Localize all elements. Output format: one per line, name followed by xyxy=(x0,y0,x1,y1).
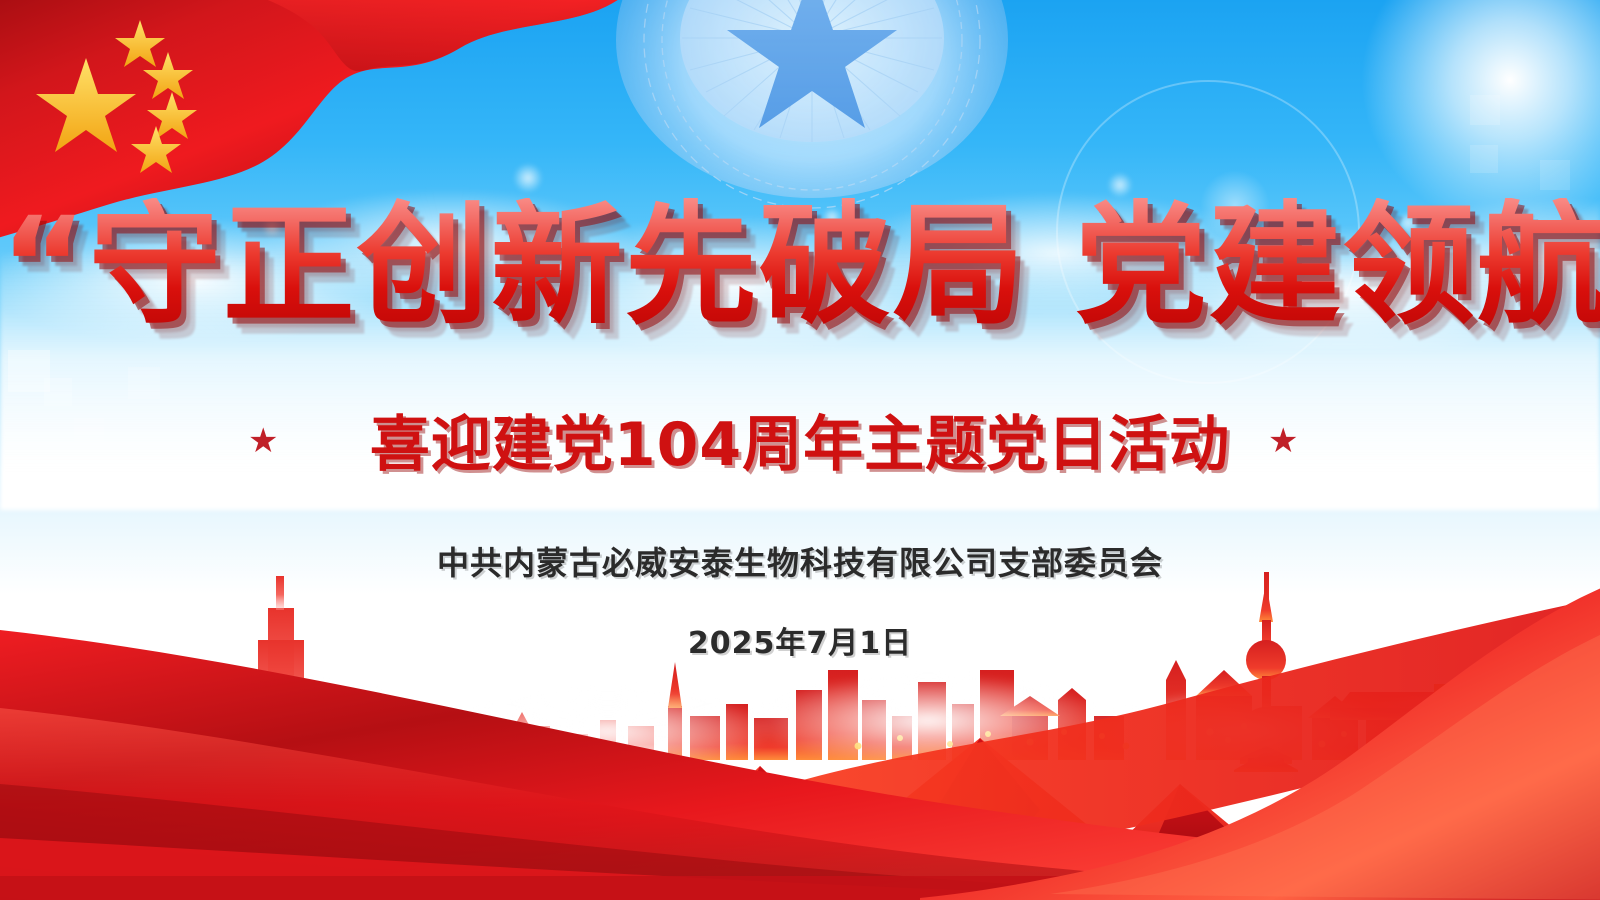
decorative-square xyxy=(128,367,160,399)
page-title: “守正创新先破局 党建领航向阳生” xyxy=(0,198,1600,335)
decorative-square xyxy=(1540,160,1570,190)
decorative-square xyxy=(1470,95,1500,125)
event-date: 2025年7月1日 xyxy=(0,618,1600,662)
decorative-square xyxy=(8,350,50,392)
organization-name: 中共内蒙古必威安泰生物科技有限公司支部委员会 xyxy=(0,538,1600,584)
party-day-event-poster: “守正创新先破局 党建领航向阳生” ★ ★ 喜迎建党104周年主题党日活动 中共… xyxy=(0,0,1600,900)
event-subtitle: 喜迎建党104周年主题党日活动 xyxy=(0,396,1600,483)
red-ribbon-right xyxy=(920,560,1600,900)
emblem-star-icon xyxy=(727,0,897,128)
decorative-square xyxy=(1470,145,1498,173)
medal-emblem-icon xyxy=(612,0,1012,210)
